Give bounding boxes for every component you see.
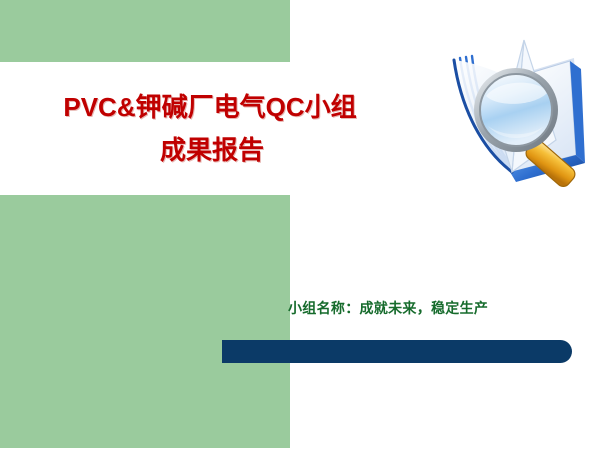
page-title-line-2: 成果报告 [156, 137, 264, 164]
page-title-line-1: PVC&钾碱厂电气QC小组 [63, 94, 356, 121]
book-with-magnifier-icon [424, 22, 596, 194]
navy-accent-bar [222, 340, 572, 363]
team-name-subtitle: 小组名称：成就未来，稳定生产 [288, 298, 488, 318]
title-block: PVC&钾碱厂电气QC小组 成果报告 [30, 66, 390, 192]
magnifier-lens [474, 68, 558, 152]
presentation-title-slide: PVC&钾碱厂电气QC小组 成果报告 [0, 0, 601, 451]
